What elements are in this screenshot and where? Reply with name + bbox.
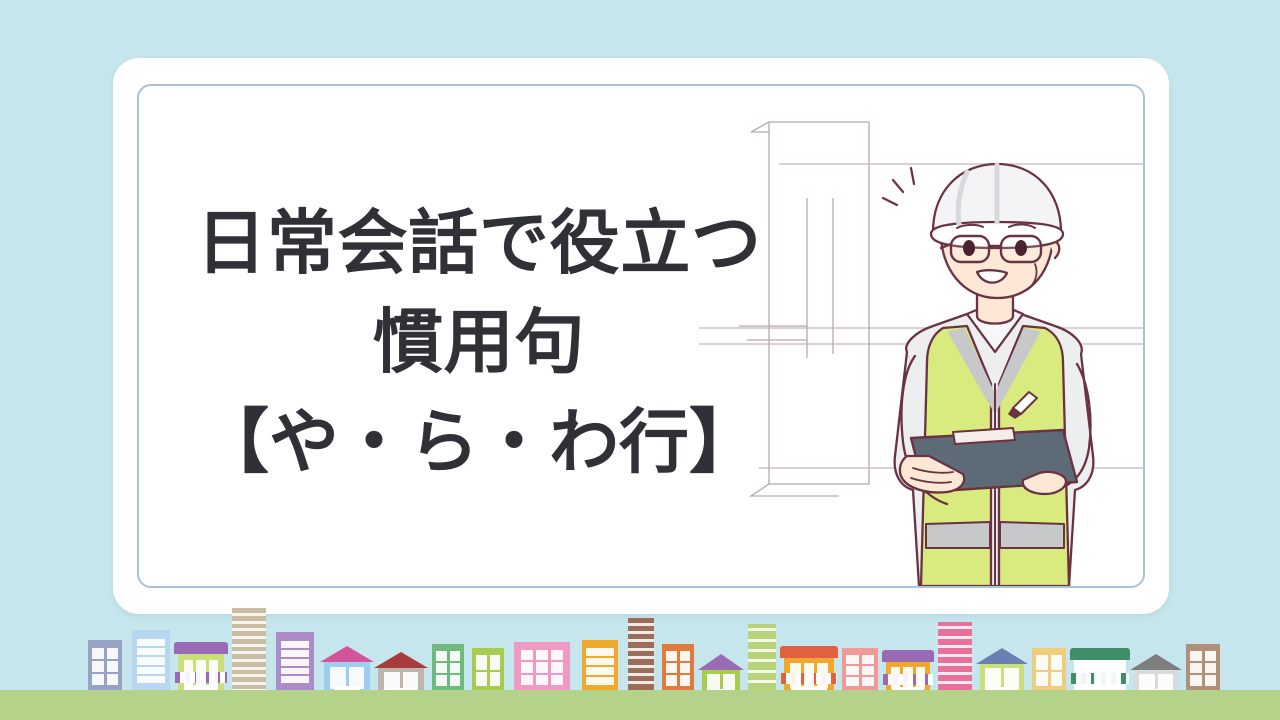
window [586,667,613,675]
window-grid [1080,665,1120,689]
skyline-building [178,644,224,696]
building-body [1032,648,1066,696]
content-card: 日常会話で役立つ 慣用句 【や・ら・わ行】 [113,58,1169,614]
skyline-building [1032,648,1066,696]
poster-canvas: 日常会話で役立つ 慣用句 【や・ら・わ行】 [0,0,1280,720]
window [521,650,533,661]
window [1051,672,1062,687]
house-roof [374,652,428,668]
window [450,663,461,673]
window [521,662,533,673]
floor-stripes [628,623,654,693]
skyline-building [784,648,834,696]
shop-roof [780,646,838,658]
window [536,675,548,686]
city-skyline [0,606,1280,696]
skyline-building [472,648,504,696]
window [450,651,461,661]
building-body [628,618,654,696]
window [666,663,677,673]
skyline-building [938,622,972,696]
window [1036,655,1047,670]
window [551,662,563,673]
skyline-building [232,608,266,696]
window [680,663,691,673]
window-grid [436,651,460,685]
window [804,663,815,688]
skyline-building [88,640,122,696]
window-grid [586,648,613,685]
window [846,655,858,664]
skyline-building [132,630,170,696]
skyline-building [514,642,570,696]
window [891,667,900,689]
window-grid [790,663,828,688]
skyline-building [662,644,694,696]
window [281,659,310,666]
window [436,651,447,661]
building-body [938,622,972,696]
building-body [748,624,776,696]
window-grid [281,641,310,683]
skyline-building [748,624,776,696]
window [790,663,801,688]
window-grid [666,651,690,685]
window [107,648,118,659]
skyline-building [1186,644,1220,696]
window [536,662,548,673]
window [476,672,487,687]
window-grid [92,648,118,685]
building-body [582,640,618,696]
window [1080,665,1091,689]
shop-roof [882,650,934,662]
window [1190,675,1201,685]
window [551,650,563,661]
house-roof [976,648,1028,664]
title-line-2: 慣用句 [139,293,819,392]
window-grid [846,655,873,687]
window [490,655,501,670]
window [916,667,925,689]
house-roof [698,654,744,670]
window [196,660,206,688]
skyline-building [582,640,618,696]
window-grid [184,660,219,688]
window [1205,651,1216,661]
building-body [514,642,570,696]
page-title: 日常会話で役立つ 慣用句 【や・ら・わ行】 [139,194,819,492]
window [137,639,166,646]
window [184,660,194,688]
house-roof [1130,654,1182,670]
window [450,675,461,685]
shop-roof [1070,648,1130,660]
title-line-1: 日常会話で役立つ [139,194,819,293]
window [107,674,118,685]
window [1205,675,1216,685]
window [862,677,874,686]
window-grid [476,655,500,687]
building-body [432,644,464,696]
skyline-building [842,648,878,696]
window-grid [521,650,564,686]
skyline-building [432,644,464,696]
floor-stripes [938,626,972,693]
skyline-building [628,618,654,696]
window [817,663,828,688]
window [137,657,166,664]
house-roof [320,646,374,662]
window [92,661,103,672]
window [137,667,166,674]
floor-stripes [748,628,776,693]
window [846,666,858,675]
window [137,676,166,683]
title-line-3: 【や・ら・わ行】 [139,393,819,492]
window [1051,655,1062,670]
ground-strip [0,690,1280,720]
window [1190,663,1201,673]
window-grid [1036,655,1062,687]
sparkle-icon [883,168,914,205]
window [1094,665,1105,689]
window [586,677,613,685]
window-grid [891,667,924,689]
window [551,675,563,686]
window [1190,651,1201,661]
shop-roof [174,642,228,654]
window [521,675,533,686]
building-body [88,640,122,696]
building-body [662,644,694,696]
window [680,651,691,661]
window-grid [1190,651,1216,685]
window-grid [137,639,166,683]
window [476,655,487,670]
window [586,658,613,666]
window [209,660,219,688]
window [862,655,874,664]
window [1109,665,1120,689]
floor-stripes [232,613,266,692]
window [92,674,103,685]
window [92,648,103,659]
window [281,650,310,657]
window [490,672,501,687]
skyline-building [324,648,370,696]
window [281,668,310,675]
window [903,667,912,689]
window [436,663,447,673]
window [281,641,310,648]
window [666,651,677,661]
window [281,676,310,683]
window [846,677,858,686]
window [862,666,874,675]
building-body [132,630,170,696]
window [666,675,677,685]
window [586,648,613,656]
window [436,675,447,685]
construction-site-supervisor-illustration [849,156,1139,586]
window [107,661,118,672]
building-body [472,648,504,696]
skyline-building [276,632,314,696]
building-body [232,608,266,696]
building-body [276,632,314,696]
window [1205,663,1216,673]
window [536,650,548,661]
content-card-inner: 日常会話で役立つ 慣用句 【や・ら・わ行】 [137,84,1145,588]
building-body [842,648,878,696]
building-body [1186,644,1220,696]
window [680,675,691,685]
window [1036,672,1047,687]
window [137,648,166,655]
